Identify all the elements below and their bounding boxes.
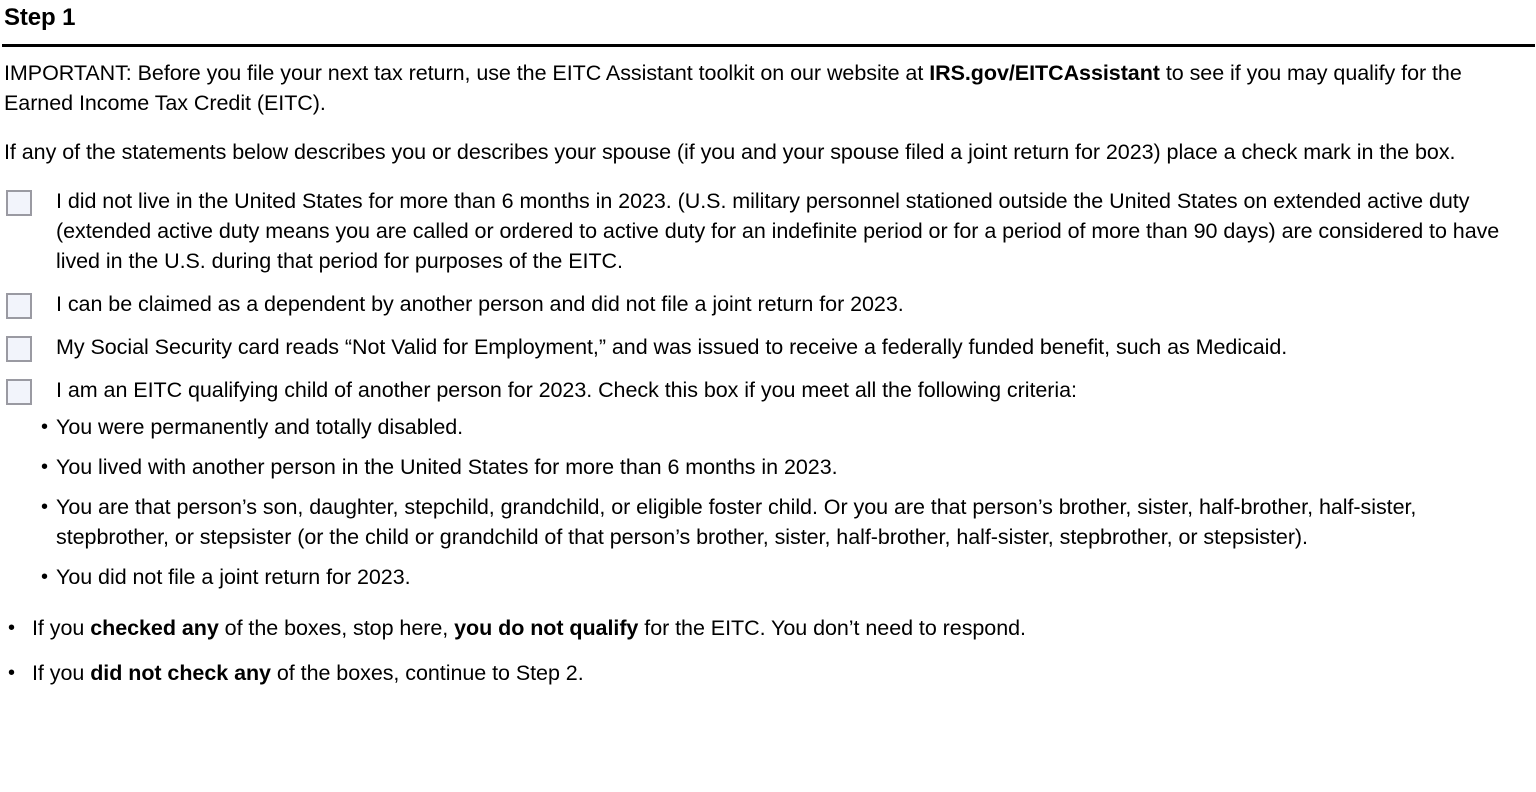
outcome-bullet-2: • If you did not check any of the boxes,…: [2, 658, 1534, 688]
important-paragraph: IMPORTANT: Before you file your next tax…: [4, 58, 1534, 118]
checkbox-4-sub-bullets: • You were permanently and totally disab…: [32, 412, 1534, 592]
checkbox-icon-3[interactable]: [6, 336, 32, 362]
outcome-1-part2: of the boxes, stop here,: [219, 616, 454, 640]
sub-bullet-text-4: You did not file a joint return for 2023…: [56, 562, 1534, 592]
checkbox-icon-1[interactable]: [6, 190, 32, 216]
checkbox-list: I did not live in the United States for …: [2, 186, 1534, 592]
sub-bullet-text-2: You lived with another person in the Uni…: [56, 452, 1534, 482]
bullet-dot-icon: •: [32, 412, 56, 442]
page-title: Step 1: [2, 0, 1534, 30]
eitc-assistant-link[interactable]: IRS.gov/EITCAssistant: [929, 61, 1160, 85]
outcome-1-part3: for the EITC. You don’t need to respond.: [638, 616, 1026, 640]
bullet-dot-icon: •: [2, 658, 32, 688]
sub-bullet-2: • You lived with another person in the U…: [32, 452, 1534, 482]
checkbox-label-2: I can be claimed as a dependent by anoth…: [56, 289, 1534, 319]
header-divider: [2, 44, 1535, 47]
instruction-paragraph: If any of the statements below describes…: [4, 137, 1534, 167]
outcome-bullet-1: • If you checked any of the boxes, stop …: [2, 613, 1534, 643]
checkbox-icon-4[interactable]: [6, 379, 32, 405]
checkbox-label-3: My Social Security card reads “Not Valid…: [56, 332, 1534, 362]
bullet-dot-icon: •: [32, 492, 56, 522]
checkbox-row-2[interactable]: I can be claimed as a dependent by anoth…: [2, 289, 1534, 319]
checkbox-4-content: I am an EITC qualifying child of another…: [32, 375, 1534, 592]
outcome-bullet-text-1: If you checked any of the boxes, stop he…: [32, 613, 1534, 643]
checkbox-row-3[interactable]: My Social Security card reads “Not Valid…: [2, 332, 1534, 362]
sub-bullet-3: • You are that person’s son, daughter, s…: [32, 492, 1534, 552]
sub-bullet-1: • You were permanently and totally disab…: [32, 412, 1534, 442]
bullet-dot-icon: •: [32, 452, 56, 482]
checkbox-icon-2[interactable]: [6, 293, 32, 319]
checkbox-label-4: I am an EITC qualifying child of another…: [56, 375, 1534, 405]
outcome-bullets: • If you checked any of the boxes, stop …: [2, 613, 1534, 688]
outcome-2-bold1: did not check any: [90, 661, 271, 685]
bullet-dot-icon: •: [2, 613, 32, 643]
worksheet-page: Step 1 IMPORTANT: Before you file your n…: [0, 0, 1536, 792]
outcome-1-bold2: you do not qualify: [454, 616, 638, 640]
bullet-dot-icon: •: [32, 562, 56, 592]
outcome-1-part1: If you: [32, 616, 90, 640]
outcome-bullet-text-2: If you did not check any of the boxes, c…: [32, 658, 1534, 688]
checkbox-row-1[interactable]: I did not live in the United States for …: [2, 186, 1534, 276]
sub-bullet-text-3: You are that person’s son, daughter, ste…: [56, 492, 1534, 552]
sub-bullet-4: • You did not file a joint return for 20…: [32, 562, 1534, 592]
checkbox-label-1: I did not live in the United States for …: [56, 186, 1534, 276]
outcome-2-part2: of the boxes, continue to Step 2.: [271, 661, 584, 685]
sub-bullet-text-1: You were permanently and totally disable…: [56, 412, 1534, 442]
outcome-2-part1: If you: [32, 661, 90, 685]
outcome-1-bold1: checked any: [90, 616, 219, 640]
important-text-before: IMPORTANT: Before you file your next tax…: [4, 61, 929, 85]
checkbox-row-4[interactable]: I am an EITC qualifying child of another…: [2, 375, 1534, 592]
